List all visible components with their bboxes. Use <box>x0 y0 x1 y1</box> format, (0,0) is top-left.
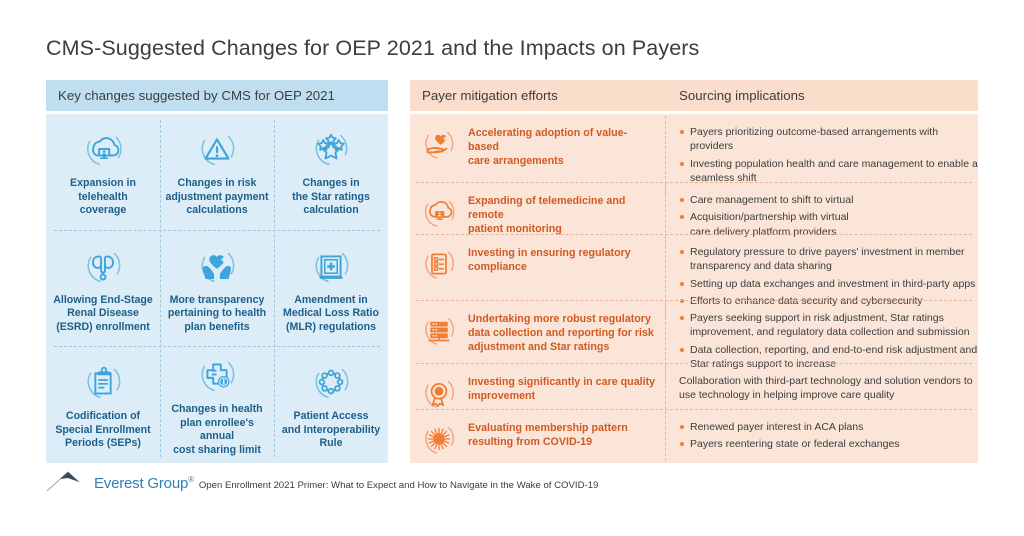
change-card-label: Changes in health plan enrollee's annual… <box>165 403 269 457</box>
change-card-label: Codification of Special Enrollment Perio… <box>55 410 150 450</box>
change-card-mlr[interactable]: Amendment in Medical Loss Ratio (MLR) re… <box>274 230 388 346</box>
sourcing-implications-cell: Collaboration with third-part technology… <box>665 371 978 403</box>
sourcing-implications-cell: Payers prioritizing outcome-based arrang… <box>665 122 978 188</box>
mitigation-effort-label: Undertaking more robust regulatory data … <box>468 308 665 355</box>
change-card-interoperability[interactable]: Patient Access and Interoperability Rule <box>274 347 388 463</box>
stars-rating-icon <box>308 126 354 172</box>
kidneys-stethoscope-icon <box>80 243 126 289</box>
right-header-implications-label: Sourcing implications <box>665 88 805 103</box>
right-panel-header: Payer mitigation efforts Sourcing implic… <box>410 80 978 111</box>
left-panel-body: Expansion in telehealth coverage Changes… <box>46 114 388 463</box>
left-panel-header-label: Key changes suggested by CMS for OEP 202… <box>58 88 335 103</box>
implication-bullet: Regulatory pressure to drive payers' inv… <box>679 245 978 274</box>
sourcing-implications-cell: Renewed payer interest in ACA plans Paye… <box>665 417 978 455</box>
quality-award-ribbon-icon <box>418 372 460 414</box>
interoperability-network-icon <box>308 359 354 405</box>
right-header-efforts-label: Payer mitigation efforts <box>410 88 665 103</box>
compliance-checklist-icon <box>418 243 460 285</box>
change-card-label: Allowing End-Stage Renal Disease (ESRD) … <box>53 294 152 334</box>
change-card-label: More transparency pertaining to health p… <box>168 294 266 334</box>
change-card-seps[interactable]: Codification of Special Enrollment Perio… <box>46 347 160 463</box>
mitigation-row[interactable]: Evaluating membership pattern resulting … <box>410 409 978 457</box>
everest-group-logo-text: Everest Group® <box>94 476 194 491</box>
mitigation-row[interactable]: Expanding of telemedicine and remote pat… <box>410 182 978 234</box>
mitigation-row[interactable]: Investing in ensuring regulatory complia… <box>410 234 978 300</box>
implication-text: Collaboration with third-part technology… <box>679 374 978 403</box>
mitigation-effort-label: Evaluating membership pattern resulting … <box>468 417 665 449</box>
mitigation-row[interactable]: Accelerating adoption of value-based car… <box>410 114 978 182</box>
mitigation-effort-label: Investing in ensuring regulatory complia… <box>468 242 665 274</box>
implication-bullet: Investing population health and care man… <box>679 157 978 186</box>
footer: Everest Group® Open Enrollment 2021 Prim… <box>46 470 598 492</box>
mitigation-effort-label: Accelerating adoption of value-based car… <box>468 122 665 169</box>
change-card-telehealth[interactable]: Expansion in telehealth coverage <box>46 114 160 230</box>
health-cost-sharing-icon <box>194 352 240 398</box>
right-panel-body: Accelerating adoption of value-based car… <box>410 114 978 463</box>
change-card-cost-sharing[interactable]: Changes in health plan enrollee's annual… <box>160 347 274 463</box>
implication-bullet: Setting up data exchanges and investment… <box>679 277 978 291</box>
mitigation-row[interactable]: Investing significantly in care quality … <box>410 363 978 409</box>
hands-heart-care-icon <box>194 243 240 289</box>
implication-bullet: Renewed payer interest in ACA plans <box>679 420 978 434</box>
enrollment-document-icon <box>80 359 126 405</box>
change-card-label: Expansion in telehealth coverage <box>70 177 136 217</box>
value-based-care-hand-heart-icon <box>418 123 460 165</box>
mitigation-effort-label: Expanding of telemedicine and remote pat… <box>468 190 665 237</box>
left-panel-header: Key changes suggested by CMS for OEP 202… <box>46 80 388 111</box>
data-server-stack-icon <box>418 309 460 351</box>
logo-name: Everest Group <box>94 475 188 492</box>
telehealth-cloud-monitor-icon <box>80 126 126 172</box>
mitigation-row[interactable]: Undertaking more robust regulatory data … <box>410 300 978 363</box>
left-panel: Key changes suggested by CMS for OEP 202… <box>46 80 388 463</box>
change-card-esrd[interactable]: Allowing End-Stage Renal Disease (ESRD) … <box>46 230 160 346</box>
implication-bullet: Payers reentering state or federal excha… <box>679 437 978 451</box>
change-card-label: Amendment in Medical Loss Ratio (MLR) re… <box>283 294 379 334</box>
change-card-label: Changes in the Star ratings calculation <box>292 177 370 217</box>
right-panel: Payer mitigation efforts Sourcing implic… <box>410 80 978 463</box>
change-card-star-ratings[interactable]: Changes in the Star ratings calculation <box>274 114 388 230</box>
change-card-label: Changes in risk adjustment payment calcu… <box>165 177 268 217</box>
telemedicine-cloud-icon <box>418 191 460 233</box>
footer-caption: Open Enrollment 2021 Primer: What to Exp… <box>199 480 599 491</box>
change-card-transparency[interactable]: More transparency pertaining to health p… <box>160 230 274 346</box>
mitigation-effort-label: Investing significantly in care quality … <box>468 371 665 403</box>
warning-triangle-icon <box>194 126 240 172</box>
covid-virus-icon <box>418 418 460 460</box>
implication-bullet: Payers prioritizing outcome-based arrang… <box>679 125 978 154</box>
change-card-label: Patient Access and Interoperability Rule <box>282 410 380 450</box>
everest-group-logo-mark-icon <box>46 470 92 492</box>
infographic-page: CMS-Suggested Changes for OEP 2021 and t… <box>0 0 1024 536</box>
page-title: CMS-Suggested Changes for OEP 2021 and t… <box>46 36 699 61</box>
implication-bullet: Care management to shift to virtual <box>679 193 978 207</box>
logo-registered-mark: ® <box>188 475 194 484</box>
change-card-risk-adjustment[interactable]: Changes in risk adjustment payment calcu… <box>160 114 274 230</box>
medical-building-icon <box>308 243 354 289</box>
implication-bullet: Payers seeking support in risk adjustmen… <box>679 311 978 340</box>
